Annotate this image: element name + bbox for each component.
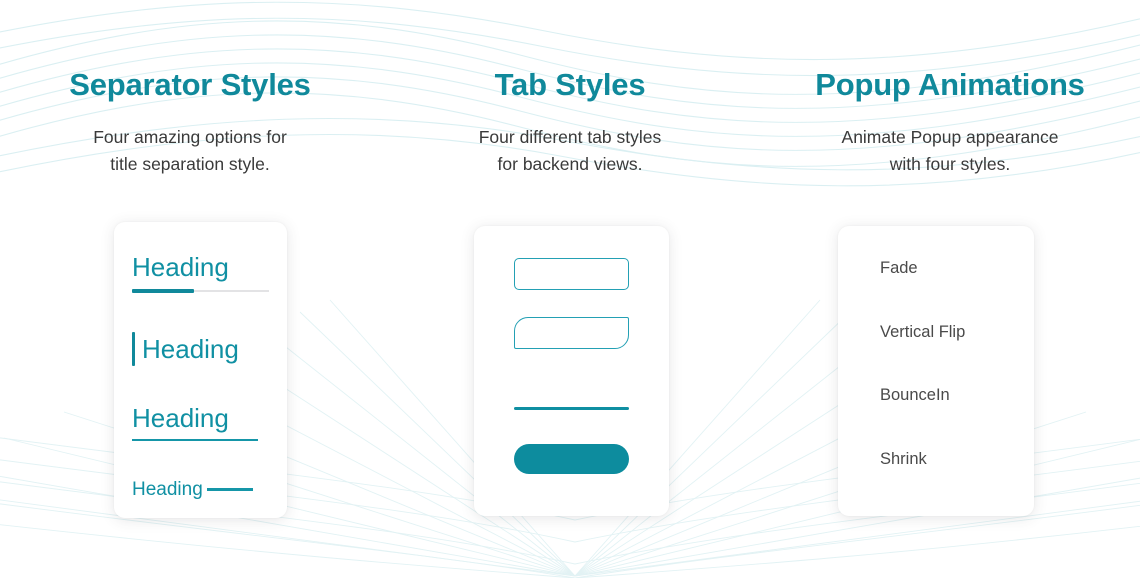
popup-animation-list: Fade Vertical Flip BounceIn Shrink — [880, 260, 965, 467]
separator-heading-label: Heading — [132, 254, 269, 280]
tab-style-rounded-rect-outline[interactable] — [514, 258, 629, 290]
separator-heading-label: Heading — [132, 480, 203, 499]
split-underline-rule — [132, 289, 269, 293]
separator-style-list: Heading Heading Heading Heading — [132, 240, 273, 504]
popup-animation-option-shrink[interactable]: Shrink — [880, 451, 965, 468]
popup-animation-option-vertical-flip[interactable]: Vertical Flip — [880, 324, 965, 341]
description-line-2: for backend views. — [380, 151, 760, 178]
rule-accent-segment — [132, 289, 194, 293]
column-description: Four amazing options for title separatio… — [0, 124, 380, 177]
full-underline-rule — [132, 439, 258, 441]
description-line-2: with four styles. — [760, 151, 1140, 178]
tab-style-asymmetric-corner-outline[interactable] — [514, 317, 629, 349]
separator-heading-label: Heading — [142, 336, 239, 362]
page-root: Separator Styles Four amazing options fo… — [0, 0, 1140, 578]
inline-trailing-rule — [207, 488, 253, 490]
description-line-1: Animate Popup appearance — [760, 124, 1140, 151]
column-title: Popup Animations — [760, 68, 1140, 102]
description-line-1: Four amazing options for — [0, 124, 380, 151]
separator-style-left-vertical-bar[interactable]: Heading — [132, 332, 239, 366]
tab-style-list — [514, 258, 629, 474]
tab-style-underline-bar[interactable] — [514, 407, 629, 410]
popup-animation-option-bouncein[interactable]: BounceIn — [880, 387, 965, 404]
separator-style-split-underline[interactable]: Heading — [132, 254, 269, 293]
column-description: Animate Popup appearance with four style… — [760, 124, 1140, 177]
popup-animations-card: Fade Vertical Flip BounceIn Shrink — [838, 226, 1034, 516]
tab-style-filled-pill[interactable] — [514, 444, 629, 474]
separator-style-inline-trailing-line[interactable]: Heading — [132, 480, 253, 499]
tab-styles-card — [474, 226, 669, 516]
column-description: Four different tab styles for backend vi… — [380, 124, 760, 177]
separator-style-full-underline[interactable]: Heading — [132, 405, 258, 441]
separator-styles-card: Heading Heading Heading Heading — [114, 222, 287, 518]
description-line-2: title separation style. — [0, 151, 380, 178]
description-line-1: Four different tab styles — [380, 124, 760, 151]
column-title: Tab Styles — [380, 68, 760, 102]
column-title: Separator Styles — [0, 68, 380, 102]
vertical-bar-accent — [132, 332, 135, 366]
separator-heading-label: Heading — [132, 405, 258, 431]
popup-animation-option-fade[interactable]: Fade — [880, 260, 965, 277]
